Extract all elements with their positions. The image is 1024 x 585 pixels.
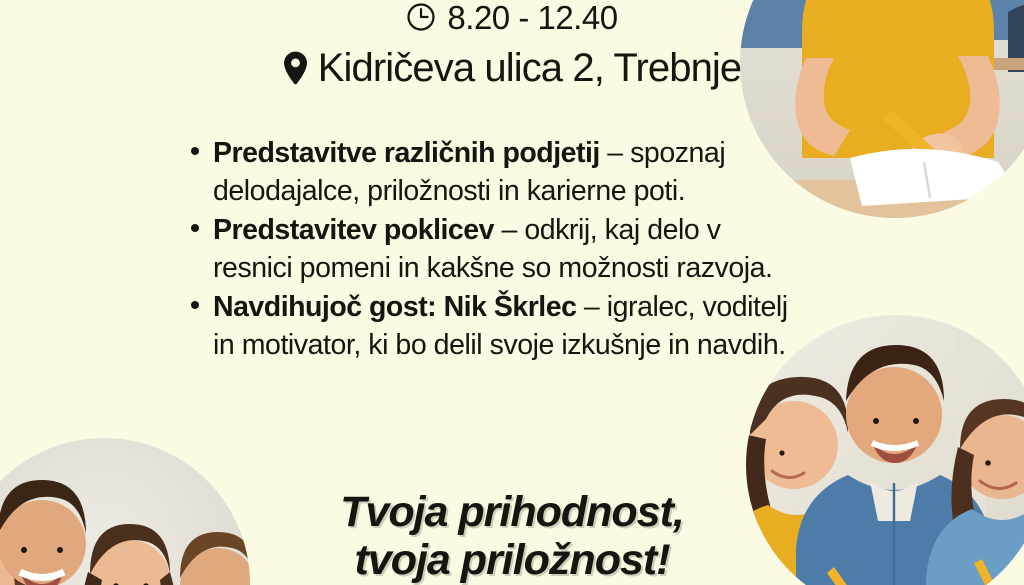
highlights-list: Predstavitve različnih podjetij – spozna… [188, 134, 798, 365]
list-item: Navdihujoč gost: Nik Škrlec – igralec, v… [188, 288, 798, 364]
photo-four-teenagers [0, 438, 250, 585]
poster-canvas: 8.20 - 12.40 Kidričeva ulica 2, Trebnje … [0, 0, 1024, 585]
list-item-lead: Predstavitev poklicev [213, 214, 494, 246]
map-pin-icon [283, 51, 308, 85]
list-item: Predstavitev poklicev – odkrij, kaj delo… [188, 211, 798, 287]
list-item-lead: Predstavitve različnih podjetij [213, 137, 600, 169]
list-item: Predstavitve različnih podjetij – spozna… [188, 134, 798, 210]
clock-icon [406, 2, 436, 32]
event-address-text: Kidričeva ulica 2, Trebnje [318, 48, 742, 88]
list-item-lead: Navdihujoč gost: Nik Škrlec [213, 291, 576, 323]
event-time-text: 8.20 - 12.40 [447, 1, 617, 34]
